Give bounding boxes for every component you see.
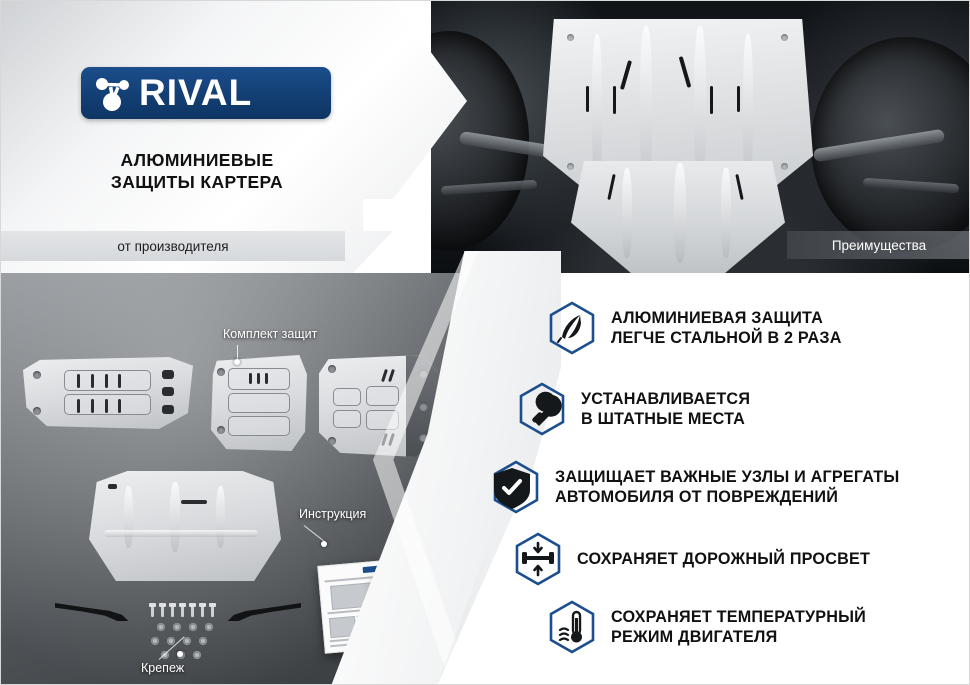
advantage-text: УСТАНАВЛИВАЕТСЯ В ШТАТНЫЕ МЕСТА xyxy=(581,389,750,429)
advantage-item-temperature: СОХРАНЯЕТ ТЕМПЕРАТУРНЫЙ РЕЖИМ ДВИГАТЕЛЯ xyxy=(547,600,866,654)
advantage-text: СОХРАНЯЕТ ДОРОЖНЫЙ ПРОСВЕТ xyxy=(577,549,870,569)
advantage-text: ЗАЩИЩАЕТ ВАЖНЫЕ УЗЛЫ И АГРЕГАТЫ АВТОМОБИ… xyxy=(555,467,899,507)
feather-icon xyxy=(547,301,597,355)
wrench-icon xyxy=(517,382,567,436)
advantage-item-protection: ЗАЩИЩАЕТ ВАЖНЫЕ УЗЛЫ И АГРЕГАТЫ АВТОМОБИ… xyxy=(491,460,899,514)
advantages-list: АЛЮМИНИЕВАЯ ЗАЩИТА ЛЕГЧЕ СТАЛЬНОЙ В 2 РА… xyxy=(1,1,969,684)
clearance-icon xyxy=(513,532,563,586)
advantage-text: СОХРАНЯЕТ ТЕМПЕРАТУРНЫЙ РЕЖИМ ДВИГАТЕЛЯ xyxy=(611,607,866,647)
advantage-item-fitment: УСТАНАВЛИВАЕТСЯ В ШТАТНЫЕ МЕСТА xyxy=(517,382,750,436)
product-poster: RIVAL АЛЮМИНИЕВЫЕ ЗАЩИТЫ КАРТЕРА от прои… xyxy=(0,0,970,685)
advantage-text: АЛЮМИНИЕВАЯ ЗАЩИТА ЛЕГЧЕ СТАЛЬНОЙ В 2 РА… xyxy=(611,308,842,348)
advantage-item-clearance: СОХРАНЯЕТ ДОРОЖНЫЙ ПРОСВЕТ xyxy=(513,532,870,586)
thermometer-icon xyxy=(547,600,597,654)
advantage-item-weight: АЛЮМИНИЕВАЯ ЗАЩИТА ЛЕГЧЕ СТАЛЬНОЙ В 2 РА… xyxy=(547,301,842,355)
shield-check-icon xyxy=(491,460,541,514)
